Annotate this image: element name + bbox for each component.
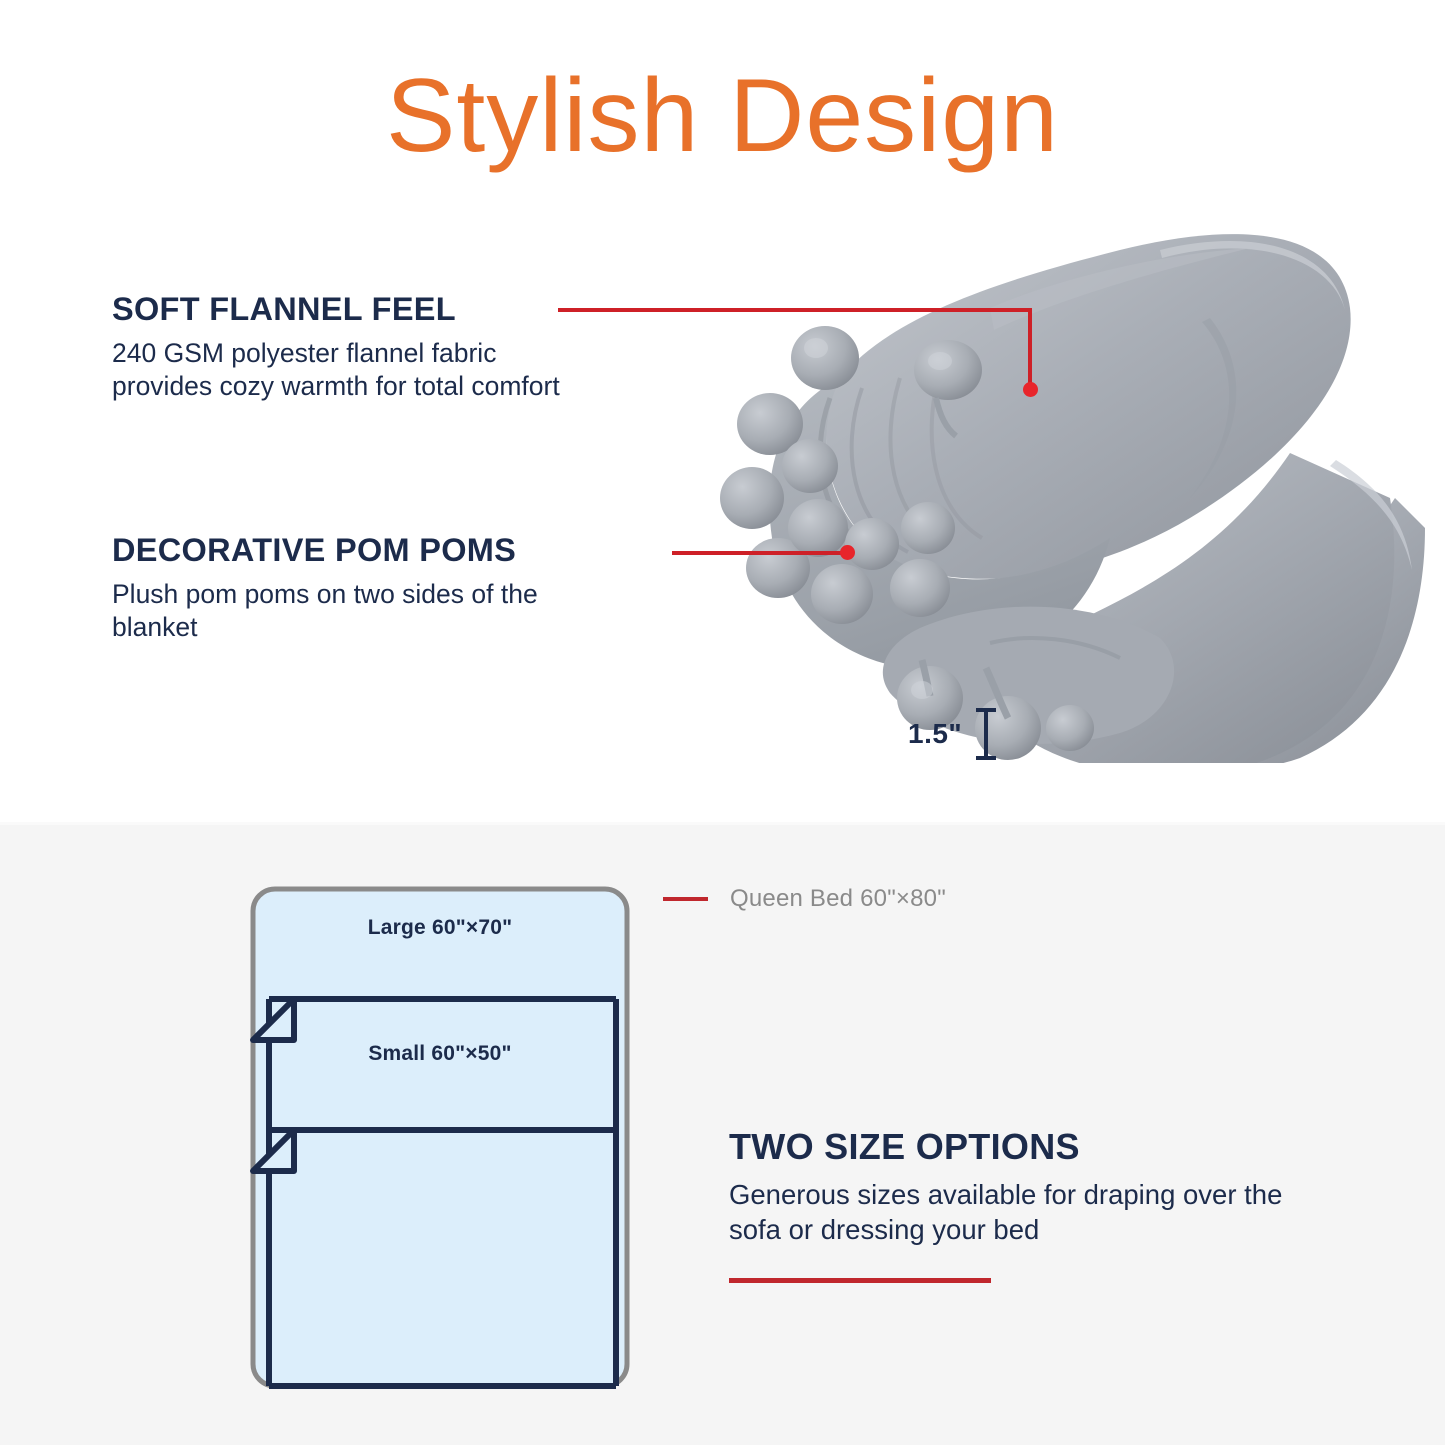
feature-body: Generous sizes available for draping ove… <box>729 1177 1309 1249</box>
top-section: Stylish Design SOFT FLANNEL FEEL 240 GSM… <box>0 0 1445 822</box>
dimension-callout: 1.5" <box>908 708 996 760</box>
legend-label: Queen Bed 60"×80" <box>730 885 946 913</box>
pointer-dot-decorative-pom-poms <box>840 545 855 560</box>
infographic-page: Stylish Design SOFT FLANNEL FEEL 240 GSM… <box>0 0 1445 1445</box>
feature-body: 240 GSM polyester flannel fabric provide… <box>112 337 562 404</box>
size-comparison-diagram <box>249 885 631 1390</box>
feature-heading: TWO SIZE OPTIONS <box>729 1127 1309 1167</box>
accent-rule-two-size-options <box>729 1278 991 1283</box>
feature-block-decorative-pom-poms: DECORATIVE POM POMS Plush pom poms on tw… <box>112 533 562 645</box>
feature-block-two-size-options: TWO SIZE OPTIONS Generous sizes availabl… <box>729 1127 1309 1248</box>
bottom-section: Large 60"×70" Small 60"×50" Queen Bed 60… <box>0 822 1445 1445</box>
i-beam-dimension-icon <box>976 708 996 760</box>
product-image-blanket <box>690 198 1435 763</box>
pointer-line-soft-flannel-feel-vertical <box>1028 308 1032 390</box>
pointer-line-soft-flannel-feel <box>558 308 1032 312</box>
feature-heading: SOFT FLANNEL FEEL <box>112 292 562 328</box>
red-line-swatch-icon <box>663 897 708 901</box>
diagram-label-large-size: Large 60"×70" <box>249 916 631 940</box>
feature-heading: DECORATIVE POM POMS <box>112 533 562 569</box>
page-title: Stylish Design <box>0 62 1445 171</box>
legend-queen-bed: Queen Bed 60"×80" <box>663 885 946 913</box>
diagram-label-small-size: Small 60"×50" <box>249 1042 631 1066</box>
dimension-label: 1.5" <box>908 718 962 750</box>
pointer-line-decorative-pom-poms <box>672 551 848 555</box>
feature-block-soft-flannel-feel: SOFT FLANNEL FEEL 240 GSM polyester flan… <box>112 292 562 404</box>
pointer-dot-soft-flannel-feel <box>1023 382 1038 397</box>
feature-body: Plush pom poms on two sides of the blank… <box>112 578 562 645</box>
